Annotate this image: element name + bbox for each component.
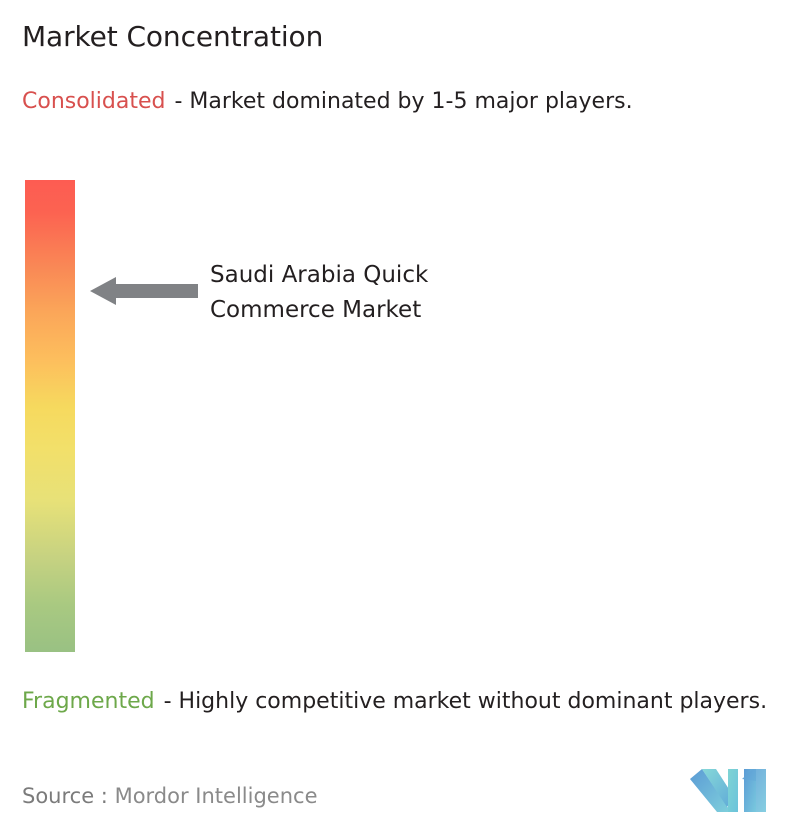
fragmented-keyword: Fragmented <box>22 689 155 714</box>
consolidated-description: - Market dominated by 1-5 major players. <box>174 89 632 114</box>
source-label: Source : <box>22 784 108 808</box>
logo-stroke-3 <box>728 769 738 812</box>
source-value: Mordor Intelligence <box>115 784 318 808</box>
fragmented-caption: Fragmented- Highly competitive market wi… <box>22 686 788 717</box>
left-arrow-icon <box>90 277 198 305</box>
consolidated-keyword: Consolidated <box>22 89 165 114</box>
page-title: Market Concentration <box>22 20 323 54</box>
market-concentration-figure: Market Concentration Consolidated- Marke… <box>0 0 796 834</box>
consolidated-caption: Consolidated- Market dominated by 1-5 ma… <box>22 86 762 117</box>
concentration-gradient-bar <box>25 180 75 652</box>
source-attribution: Source : Mordor Intelligence <box>22 783 317 809</box>
fragmented-description: - Highly competitive market without domi… <box>164 689 767 714</box>
callout-label: Saudi Arabia Quick Commerce Market <box>210 258 540 328</box>
callout-arrow <box>90 274 198 308</box>
mordor-intelligence-logo <box>690 769 766 812</box>
callout-label-text: Saudi Arabia Quick Commerce Market <box>210 262 428 323</box>
